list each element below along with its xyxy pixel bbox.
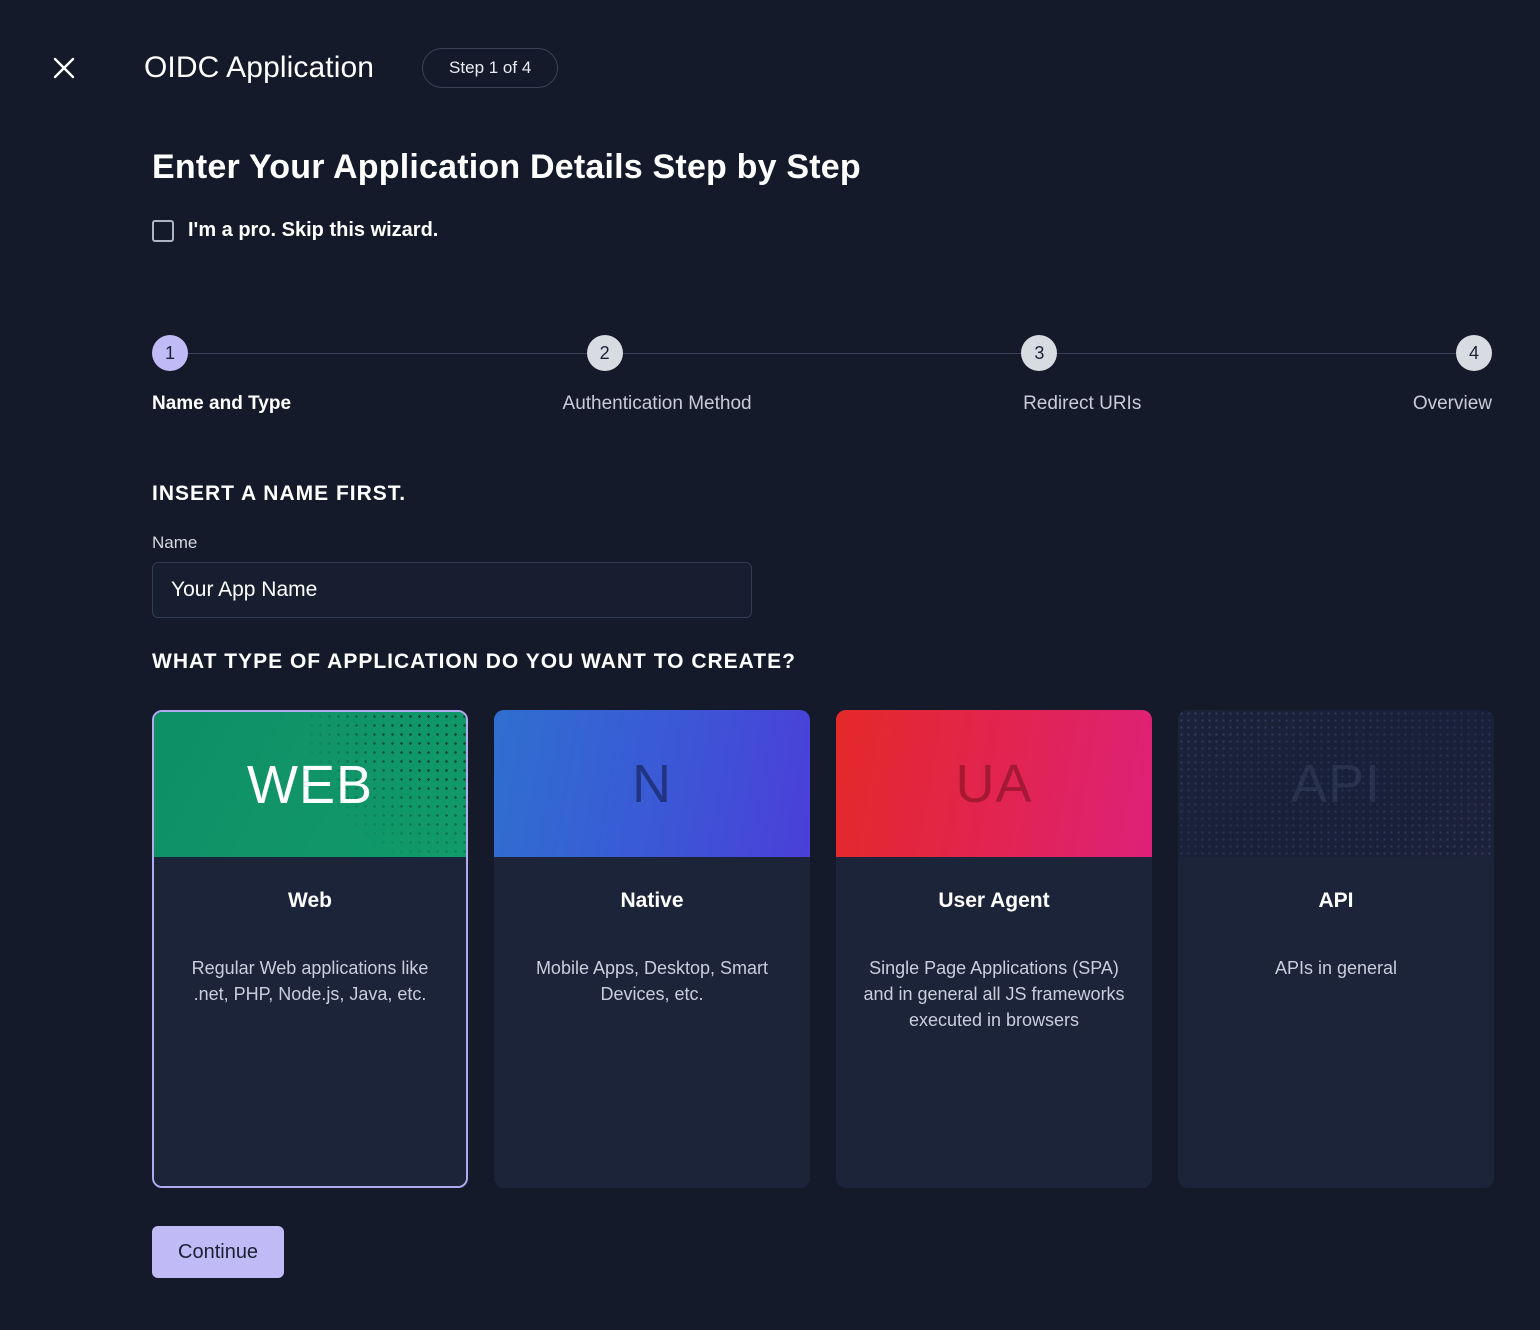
card-glyph-native: N	[632, 757, 672, 811]
stepper-labels: Name and Type Authentication Method Redi…	[152, 393, 1492, 415]
card-title-native: Native	[516, 889, 788, 913]
step-label-overview: Overview	[1413, 393, 1492, 415]
app-type-card-native[interactable]: N Native Mobile Apps, Desktop, Smart Dev…	[494, 710, 810, 1188]
wizard-heading: Enter Your Application Details Step by S…	[152, 148, 861, 187]
card-title-api: API	[1200, 889, 1472, 913]
oidc-application-wizard: OIDC Application Step 1 of 4 Enter Your …	[0, 0, 1540, 1330]
skip-wizard-label: I'm a pro. Skip this wizard.	[188, 219, 438, 242]
step-connector-2	[623, 353, 1022, 354]
card-title-user-agent: User Agent	[858, 889, 1130, 913]
step-node-3[interactable]: 3	[1021, 335, 1057, 371]
app-type-card-web[interactable]: WEB Web Regular Web applications like .n…	[152, 710, 468, 1188]
step-node-1[interactable]: 1	[152, 335, 188, 371]
step-label-name-and-type: Name and Type	[152, 393, 291, 415]
step-label-redirect-uris: Redirect URIs	[1023, 393, 1141, 415]
card-body-native: Native Mobile Apps, Desktop, Smart Devic…	[494, 857, 810, 1188]
page-title: OIDC Application	[144, 51, 374, 85]
skip-wizard-row[interactable]: I'm a pro. Skip this wizard.	[152, 219, 438, 242]
application-type-cards: WEB Web Regular Web applications like .n…	[152, 710, 1496, 1188]
step-node-4[interactable]: 4	[1456, 335, 1492, 371]
card-banner-api: API	[1178, 710, 1494, 857]
card-glyph-user-agent: UA	[955, 757, 1032, 811]
type-section-title: WHAT TYPE OF APPLICATION DO YOU WANT TO …	[152, 650, 796, 674]
card-glyph-web: WEB	[247, 758, 373, 812]
name-field-label: Name	[152, 533, 197, 553]
card-banner-native: N	[494, 710, 810, 857]
card-description-web: Regular Web applications like .net, PHP,…	[176, 955, 444, 1007]
step-label-authentication-method: Authentication Method	[563, 393, 752, 415]
card-description-api: APIs in general	[1200, 955, 1472, 981]
wizard-header: OIDC Application Step 1 of 4	[52, 44, 1488, 92]
step-node-2[interactable]: 2	[587, 335, 623, 371]
card-title-web: Web	[176, 889, 444, 913]
app-type-card-api[interactable]: API API APIs in general	[1178, 710, 1494, 1188]
continue-button[interactable]: Continue	[152, 1226, 284, 1278]
card-body-web: Web Regular Web applications like .net, …	[154, 857, 466, 1186]
card-description-native: Mobile Apps, Desktop, Smart Devices, etc…	[516, 955, 788, 1007]
card-glyph-api: API	[1291, 757, 1381, 811]
name-section-title: INSERT A NAME FIRST.	[152, 482, 406, 506]
step-connector-1	[188, 353, 587, 354]
card-body-user-agent: User Agent Single Page Applications (SPA…	[836, 857, 1152, 1188]
app-type-card-user-agent[interactable]: UA User Agent Single Page Applications (…	[836, 710, 1152, 1188]
step-connector-3	[1057, 353, 1456, 354]
close-icon[interactable]	[44, 48, 84, 88]
skip-wizard-checkbox[interactable]	[152, 220, 174, 242]
stepper-track: 1 2 3 4	[152, 335, 1492, 371]
card-body-api: API APIs in general	[1178, 857, 1494, 1188]
card-banner-web: WEB	[154, 712, 466, 857]
card-description-user-agent: Single Page Applications (SPA) and in ge…	[858, 955, 1130, 1033]
card-banner-user-agent: UA	[836, 710, 1152, 857]
app-name-input[interactable]	[152, 562, 752, 618]
wizard-stepper: 1 2 3 4 Name and Type Authentication Met…	[152, 335, 1492, 430]
step-indicator-badge[interactable]: Step 1 of 4	[422, 48, 558, 88]
